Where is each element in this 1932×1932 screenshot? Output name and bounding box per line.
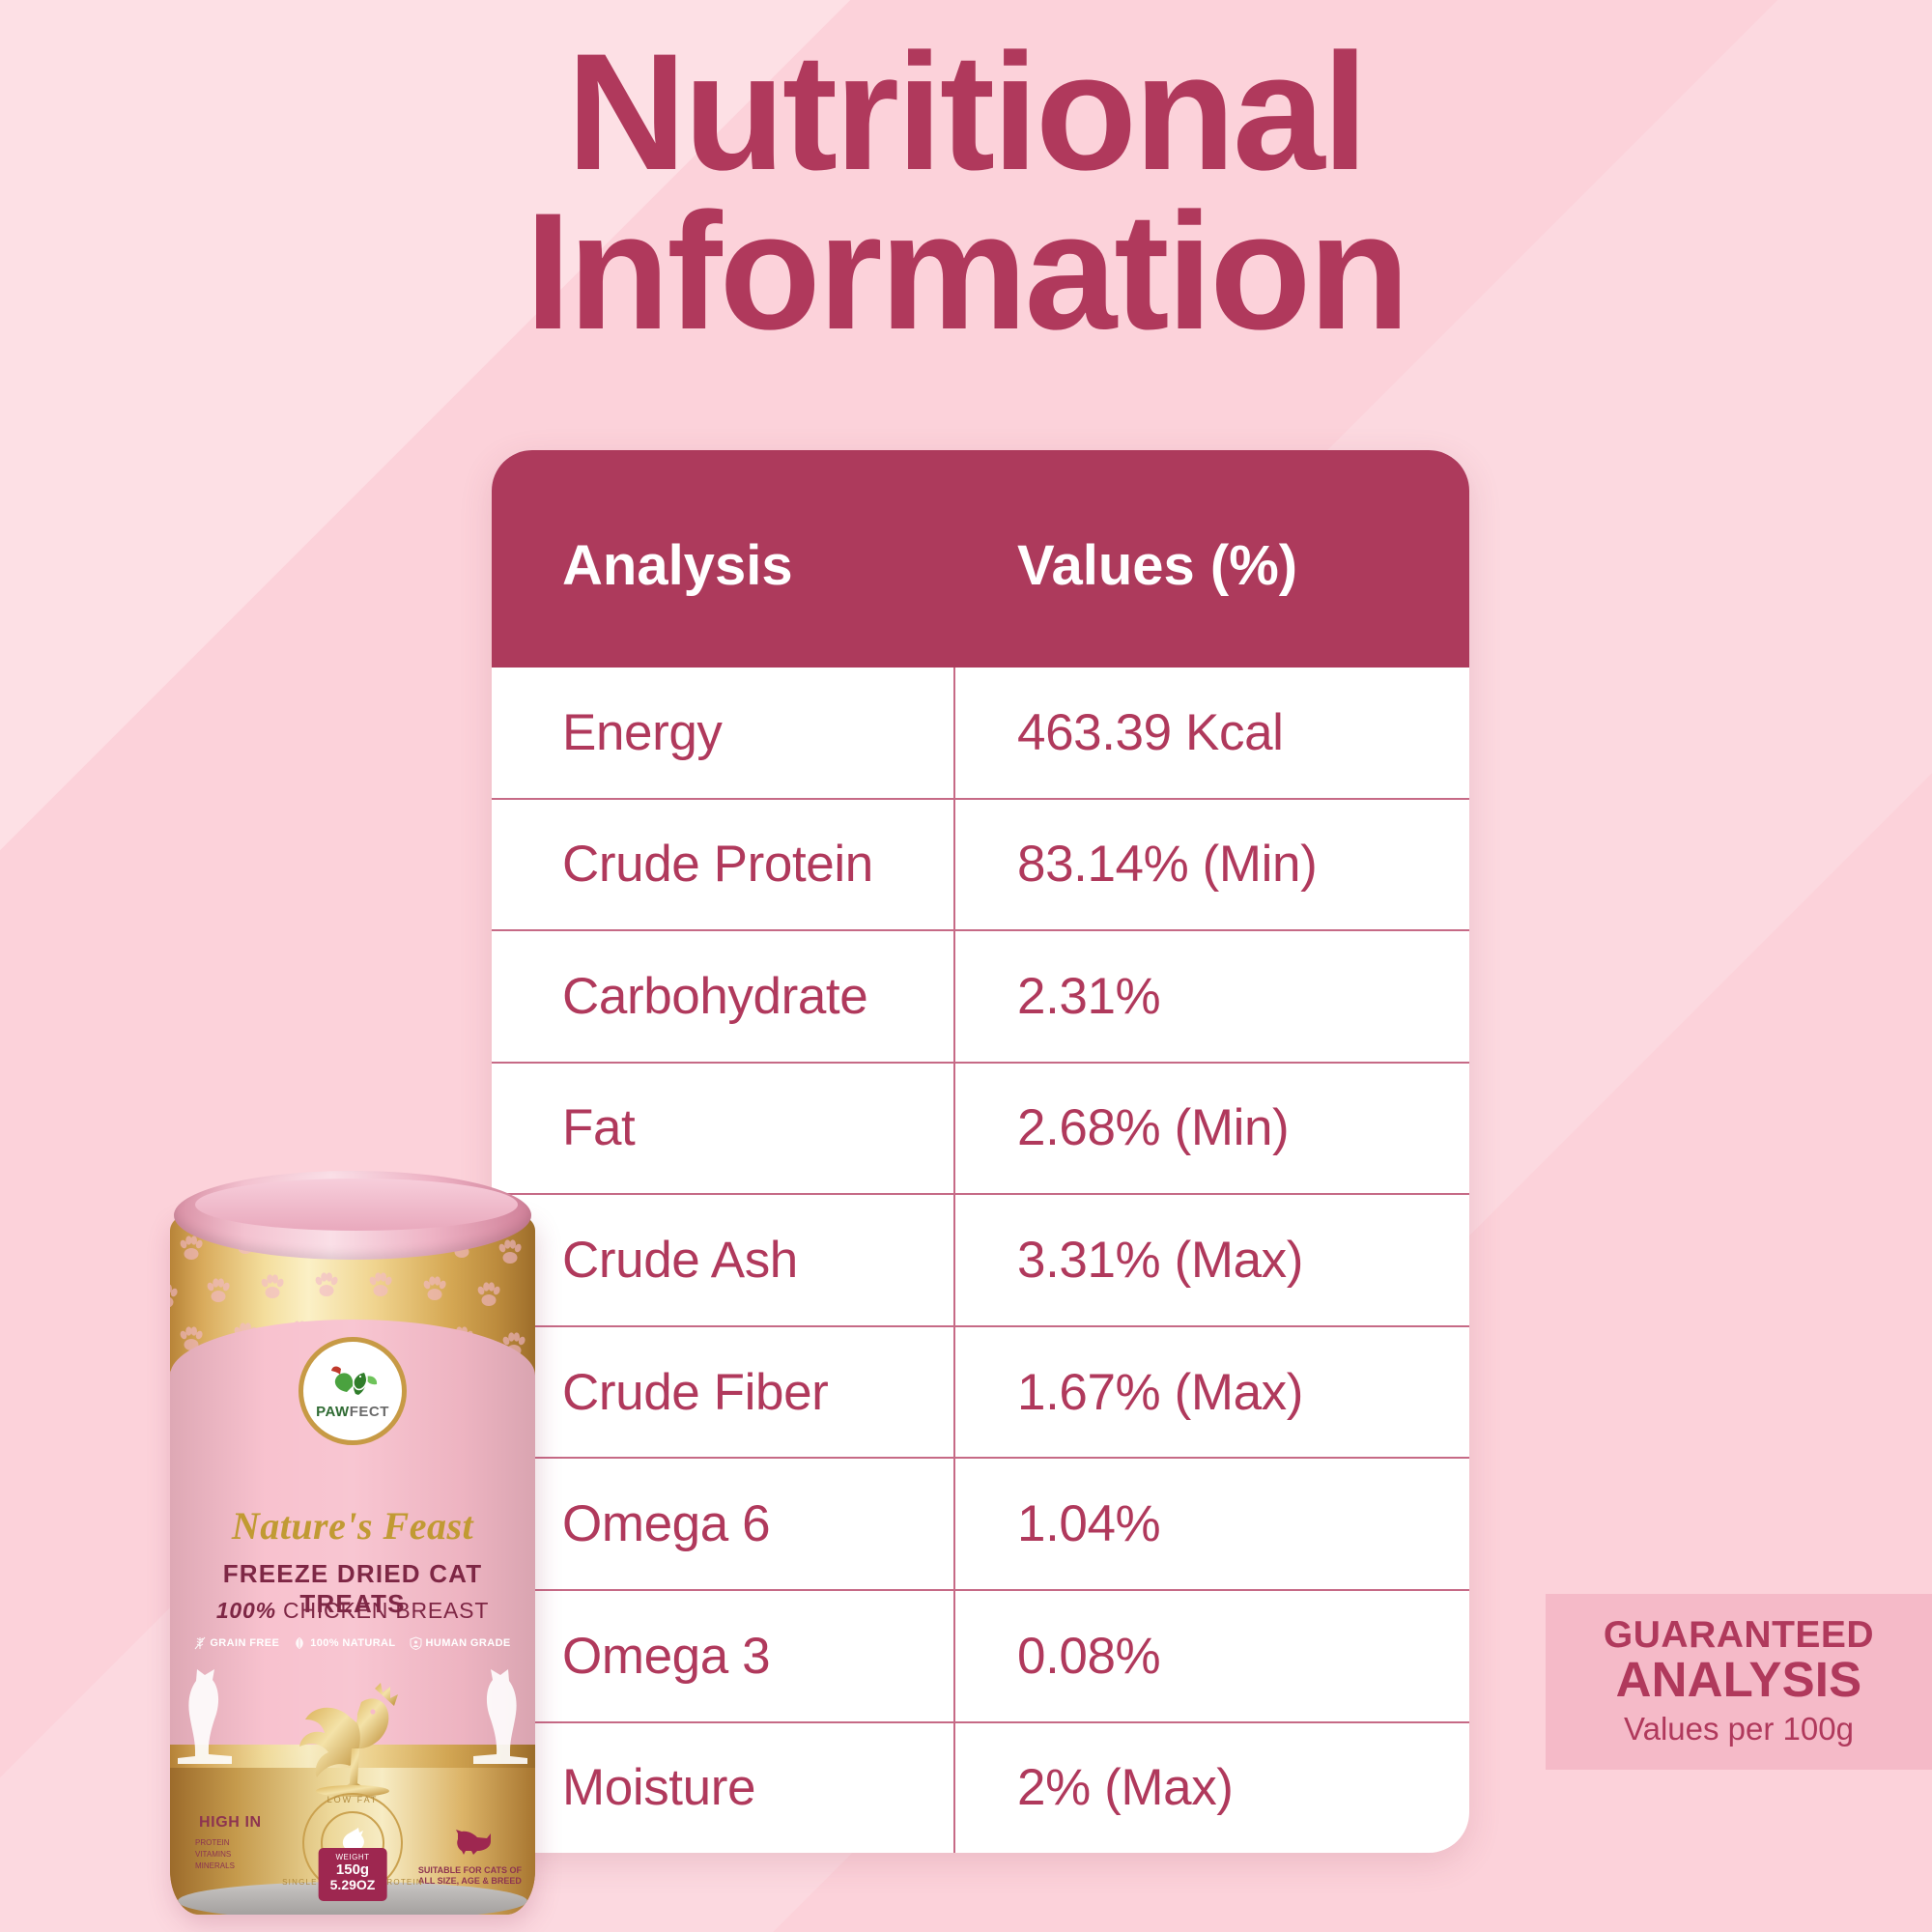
table-row: Carbohydrate 2.31% xyxy=(492,929,1469,1062)
row-value-crude-protein: 83.14% (Min) xyxy=(955,800,1469,930)
weight-grams: 150g xyxy=(330,1862,376,1879)
row-label-crude-ash: Crude Ash xyxy=(492,1195,955,1325)
weight-ounces: 5.29OZ xyxy=(330,1878,376,1893)
cat-silhouette-left-icon xyxy=(176,1667,251,1772)
row-value-crude-fiber: 1.67% (Max) xyxy=(955,1327,1469,1458)
high-in-item-protein: PROTEIN xyxy=(195,1837,235,1849)
can-ingredient-name: CHICKEN BREAST xyxy=(283,1598,489,1623)
row-value-crude-ash: 3.31% (Max) xyxy=(955,1195,1469,1325)
can-body: PAWFECT Nature's Feast FREEZE DRIED CAT … xyxy=(170,1213,535,1915)
row-label-crude-protein: Crude Protein xyxy=(492,800,955,930)
can-product-pct: 100% xyxy=(216,1598,276,1623)
row-label-fat: Fat xyxy=(492,1064,955,1194)
table-row: Omega 3 0.08% xyxy=(492,1589,1469,1721)
weight-badge: WEIGHT 150g 5.29OZ xyxy=(319,1848,387,1901)
row-value-energy: 463.39 Kcal xyxy=(955,668,1469,798)
walking-cat-icon xyxy=(454,1830,493,1855)
high-in-label: HIGH IN xyxy=(199,1814,262,1832)
leaf-icon xyxy=(293,1636,306,1650)
row-value-moisture: 2% (Max) xyxy=(955,1723,1469,1854)
row-label-carbohydrate: Carbohydrate xyxy=(492,931,955,1062)
row-value-fat: 2.68% (Min) xyxy=(955,1064,1469,1194)
suitable-line-1: SUITABLE FOR CATS OF xyxy=(418,1865,522,1877)
can-lid xyxy=(174,1171,531,1260)
page-title-line-1: Nutritional xyxy=(0,33,1932,192)
high-in-item-minerals: MINERALS xyxy=(195,1861,235,1872)
guarantee-line-1: GUARANTEED xyxy=(1604,1616,1874,1655)
cat-leaf-logo-icon xyxy=(326,1363,380,1402)
row-value-omega-3: 0.08% xyxy=(955,1591,1469,1721)
row-value-omega-6: 1.04% xyxy=(955,1459,1469,1589)
rooster-icon xyxy=(290,1681,415,1804)
claim-natural: 100% NATURAL xyxy=(293,1636,395,1650)
table-row: Moisture 2% (Max) xyxy=(492,1721,1469,1854)
claim-grain-free-label: GRAIN FREE xyxy=(210,1637,279,1649)
table-row: Omega 6 1.04% xyxy=(492,1457,1469,1589)
page-title: Nutritional Information xyxy=(0,33,1932,352)
table-body: Energy 463.39 Kcal Crude Protein 83.14% … xyxy=(492,668,1469,1853)
table-header-values: Values (%) xyxy=(955,533,1469,668)
row-label-energy: Energy xyxy=(492,668,955,798)
table-row: Crude Protein 83.14% (Min) xyxy=(492,798,1469,930)
row-label-moisture: Moisture xyxy=(492,1723,955,1854)
shield-icon xyxy=(410,1636,422,1650)
can-product-script: Nature's Feast xyxy=(170,1503,535,1548)
row-value-carbohydrate: 2.31% xyxy=(955,931,1469,1062)
claim-human-grade: HUMAN GRADE xyxy=(410,1636,511,1650)
can-product-ingredient: 100% CHICKEN BREAST xyxy=(170,1598,535,1624)
table-row: Energy 463.39 Kcal xyxy=(492,668,1469,798)
claim-human-grade-label: HUMAN GRADE xyxy=(426,1637,511,1649)
high-in-item-vitamins: VITAMINS xyxy=(195,1849,235,1861)
brand-paw: PAW xyxy=(316,1404,350,1420)
table-header-row: Analysis Values (%) xyxy=(492,450,1469,668)
row-label-crude-fiber: Crude Fiber xyxy=(492,1327,955,1458)
table-row: Fat 2.68% (Min) xyxy=(492,1062,1469,1194)
brand-logo-badge: PAWFECT xyxy=(298,1337,407,1445)
cat-silhouette-right-icon xyxy=(454,1667,529,1772)
brand-name: PAWFECT xyxy=(316,1404,389,1420)
page-title-line-2: Information xyxy=(0,192,1932,352)
claim-natural-label: 100% NATURAL xyxy=(310,1637,395,1649)
seal-top-text: LOW FAT xyxy=(327,1795,379,1804)
table-row: Crude Ash 3.31% (Max) xyxy=(492,1193,1469,1325)
wheat-crossed-icon xyxy=(194,1636,206,1650)
table-header-analysis: Analysis xyxy=(492,533,955,668)
row-label-omega-3: Omega 3 xyxy=(492,1591,955,1721)
nutrition-table-card: Analysis Values (%) Energy 463.39 Kcal C… xyxy=(492,450,1469,1853)
guarantee-line-3: Values per 100g xyxy=(1624,1711,1854,1747)
claim-grain-free: GRAIN FREE xyxy=(194,1636,279,1650)
row-label-omega-6: Omega 6 xyxy=(492,1459,955,1589)
product-can-image: PAWFECT Nature's Feast FREEZE DRIED CAT … xyxy=(170,1171,535,1932)
table-row: Crude Fiber 1.67% (Max) xyxy=(492,1325,1469,1458)
guaranteed-analysis-badge: GUARANTEED ANALYSIS Values per 100g xyxy=(1546,1594,1932,1770)
can-claims-row: GRAIN FREE 100% NATURAL HUMAN GRADE xyxy=(170,1636,535,1650)
brand-fect: FECT xyxy=(350,1404,389,1420)
can-lid-top xyxy=(195,1179,518,1231)
guarantee-line-2: ANALYSIS xyxy=(1616,1655,1862,1705)
high-in-items: PROTEIN VITAMINS MINERALS xyxy=(195,1837,235,1872)
